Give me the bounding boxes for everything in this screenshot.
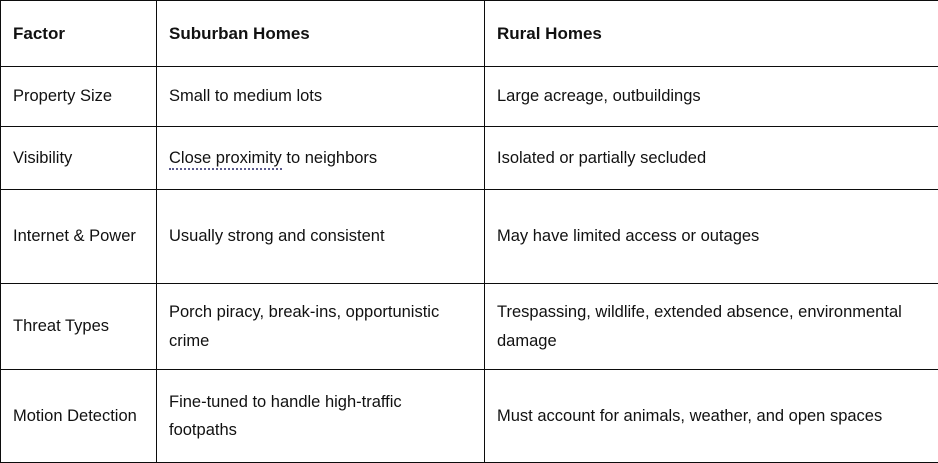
cell-internet-and-power-suburban: Usually strong and consistent [157, 190, 485, 284]
row-label-motion-detection: Motion Detection [1, 370, 157, 463]
row-label-internet-and-power: Internet & Power [1, 190, 157, 284]
table-row: Motion Detection Fine-tuned to handle hi… [1, 370, 938, 463]
column-header-factor: Factor [1, 1, 157, 67]
cell-internet-and-power-rural: May have limited access or outages [485, 190, 938, 284]
table-body: Property Size Small to medium lots Large… [1, 67, 938, 463]
grammar-suggestion-underline[interactable]: Close proximity [169, 149, 282, 170]
row-label-visibility: Visibility [1, 127, 157, 190]
cell-visibility-rural: Isolated or partially secluded [485, 127, 938, 190]
cell-threat-types-rural: Trespassing, wildlife, extended absence,… [485, 284, 938, 370]
table-row: Internet & Power Usually strong and cons… [1, 190, 938, 284]
cell-motion-detection-rural: Must account for animals, weather, and o… [485, 370, 938, 463]
column-header-rural-homes: Rural Homes [485, 1, 938, 67]
row-label-threat-types: Threat Types [1, 284, 157, 370]
cell-threat-types-suburban: Porch piracy, break-ins, opportunistic c… [157, 284, 485, 370]
table-header: Factor Suburban Homes Rural Homes [1, 1, 938, 67]
cell-property-size-rural: Large acreage, outbuildings [485, 67, 938, 127]
comparison-table: Factor Suburban Homes Rural Homes Proper… [0, 0, 938, 463]
cell-property-size-suburban: Small to medium lots [157, 67, 485, 127]
column-header-suburban-homes: Suburban Homes [157, 1, 485, 67]
cell-visibility-suburban-rest: to neighbors [282, 149, 377, 167]
table-row: Threat Types Porch piracy, break-ins, op… [1, 284, 938, 370]
table-row: Property Size Small to medium lots Large… [1, 67, 938, 127]
cell-visibility-suburban: Close proximity to neighbors [157, 127, 485, 190]
row-label-property-size: Property Size [1, 67, 157, 127]
table-row: Visibility Close proximity to neighbors … [1, 127, 938, 190]
cell-motion-detection-suburban: Fine-tuned to handle high-traffic footpa… [157, 370, 485, 463]
table-header-row: Factor Suburban Homes Rural Homes [1, 1, 938, 67]
